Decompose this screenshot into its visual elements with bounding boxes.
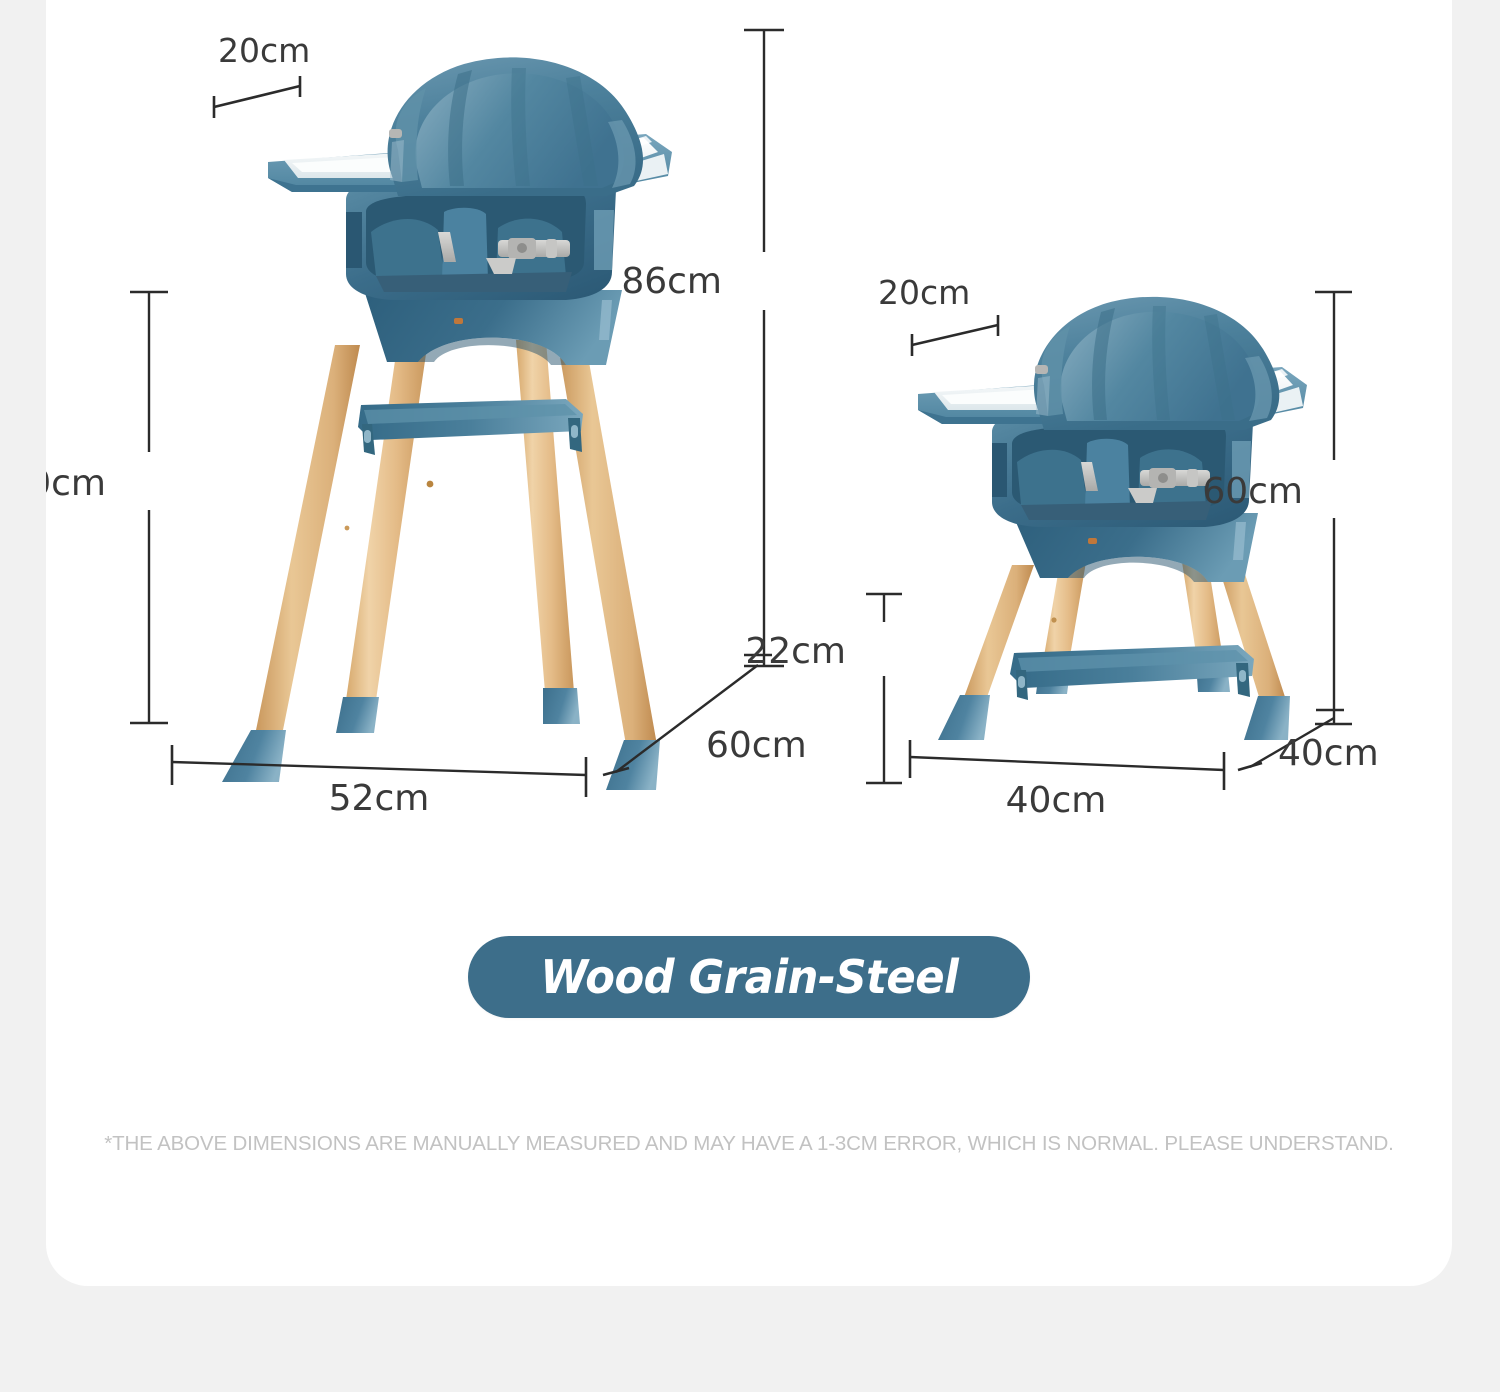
chair-backrest-tall	[388, 57, 643, 196]
chair-base-tall	[364, 290, 622, 365]
leg-foot-cap	[543, 688, 580, 724]
disclaimer-wrap: *THE ABOVE DIMENSIONS ARE MANUALLY MEASU…	[46, 1132, 1452, 1156]
dimension-diagram-stage: 20cm 86cm 50cm	[46, 0, 1452, 920]
dimension-total-height-tall: 86cm	[621, 30, 784, 666]
dimension-label-86cm-tall: 86cm	[621, 261, 722, 302]
leg-foot-cap	[606, 740, 660, 790]
dimension-label-20cm-low: 20cm	[878, 273, 970, 312]
dimension-label-50cm-tall: 50cm	[46, 463, 106, 504]
dimension-seat-height-tall: 50cm	[46, 292, 168, 723]
dimension-label-60cm-tall: 60cm	[706, 725, 807, 766]
chair-illustration-low	[918, 297, 1307, 740]
dimension-width-low: 40cm	[910, 740, 1224, 821]
dimension-tray-depth-tall: 20cm	[214, 31, 310, 118]
dimension-label-20cm-tall: 20cm	[218, 31, 310, 70]
dimension-label-52cm-tall: 52cm	[329, 778, 430, 819]
leg-foot-cap	[222, 730, 286, 782]
leg-foot-cap	[938, 695, 990, 740]
variant-badge-label: Wood Grain-Steel	[540, 950, 958, 1004]
dimension-label-22cm-low: 22cm	[745, 631, 846, 672]
chair-illustration-tall	[222, 57, 672, 790]
dimension-tray-depth-low: 20cm	[878, 273, 998, 356]
product-detail-card: 20cm 86cm 50cm	[46, 0, 1452, 1286]
measurement-disclaimer: *THE ABOVE DIMENSIONS ARE MANUALLY MEASU…	[104, 1132, 1393, 1156]
variant-badge[interactable]: Wood Grain-Steel	[468, 936, 1030, 1018]
dimension-label-60cm-low: 60cm	[1202, 471, 1303, 512]
dimension-diagram-svg: 20cm 86cm 50cm	[46, 0, 1452, 920]
leg-foot-cap	[336, 697, 379, 733]
chair-backrest-low	[1034, 297, 1279, 430]
dimension-label-40cm-depth-low: 40cm	[1278, 733, 1379, 774]
variant-badge-wrap: Wood Grain-Steel	[46, 936, 1452, 1018]
page-root: 20cm 86cm 50cm	[0, 0, 1500, 1392]
dimension-label-40cm-width-low: 40cm	[1006, 780, 1107, 821]
